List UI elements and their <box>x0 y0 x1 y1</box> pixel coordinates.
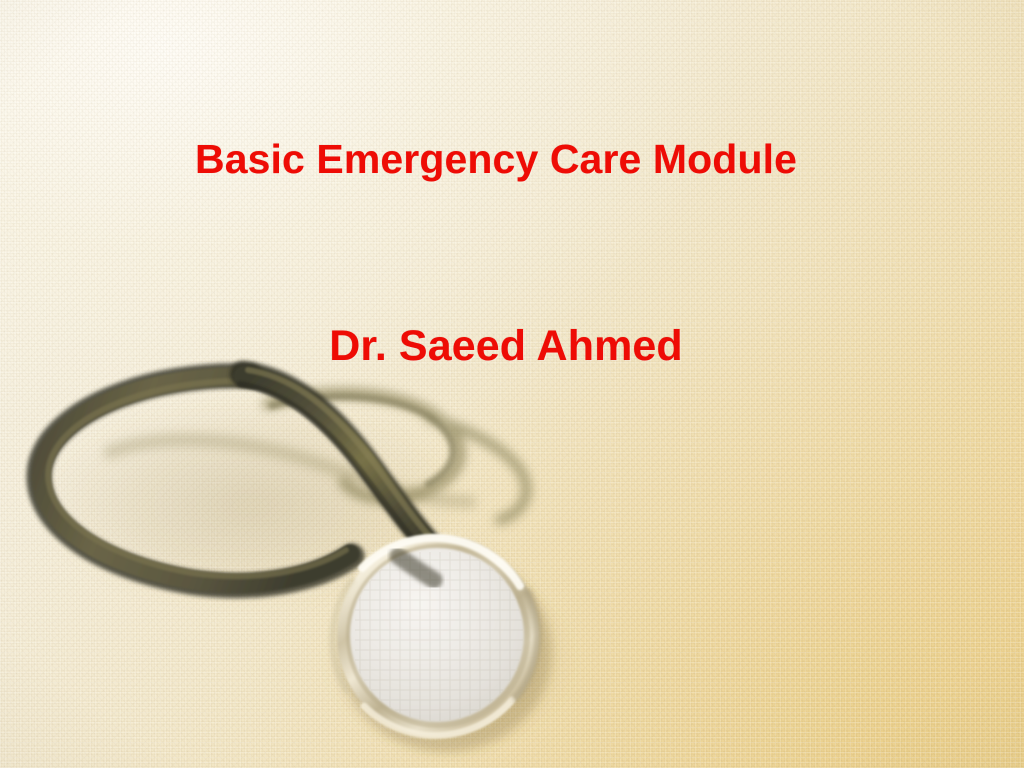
slide-subtitle-placeholder: Dr. Saeed Ahmed <box>0 320 1024 372</box>
paper-grain-texture <box>0 0 1024 768</box>
presentation-slide: Basic Emergency Care Module Dr. Saeed Ah… <box>0 0 1024 768</box>
slide-title-placeholder: Basic Emergency Care Module <box>0 134 1024 184</box>
page-title: Basic Emergency Care Module <box>195 134 829 184</box>
presenter-name: Dr. Saeed Ahmed <box>329 320 695 372</box>
